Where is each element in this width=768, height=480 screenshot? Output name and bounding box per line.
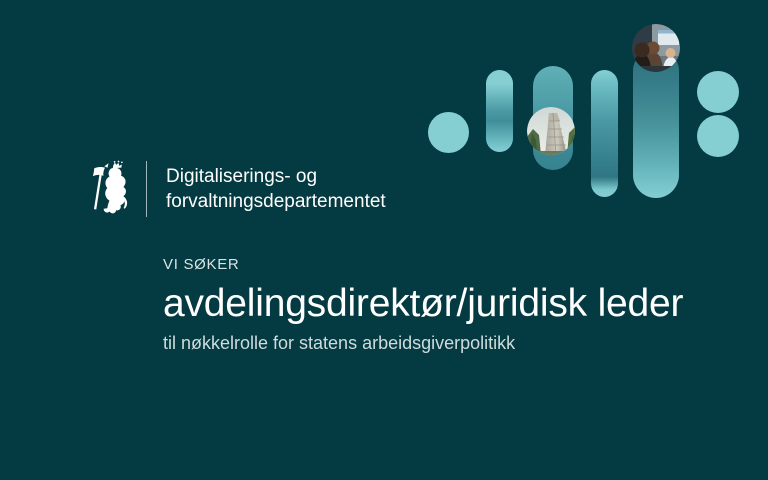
job-title-heading: avdelingsdirektør/juridisk leder — [163, 281, 683, 327]
logo-divider — [146, 161, 147, 217]
department-logo: Digitaliserings- og forvaltningsdepartem… — [88, 160, 386, 218]
job-subtitle: til nøkkelrolle for statens arbeidsgiver… — [163, 331, 683, 355]
norwegian-coat-of-arms-lion-icon — [88, 160, 132, 218]
department-name: Digitaliserings- og forvaltningsdepartem… — [166, 164, 386, 214]
photo-building-facade — [527, 107, 575, 155]
circle-solid-1 — [428, 112, 469, 153]
job-ad-poster: Digitaliserings- og forvaltningsdepartem… — [0, 0, 768, 480]
circle-solid-top-right — [697, 71, 739, 113]
circle-solid-bottom-right — [697, 115, 739, 157]
pill-4 — [591, 70, 618, 197]
announcement-block: VI SØKER avdelingsdirektør/juridisk lede… — [163, 255, 683, 355]
department-name-line2: forvaltningsdepartementet — [166, 189, 386, 214]
decorative-shape-cluster — [420, 0, 768, 220]
eyebrow-label: VI SØKER — [163, 255, 683, 275]
department-name-line1: Digitaliserings- og — [166, 164, 386, 189]
pill-2 — [486, 70, 513, 152]
photo-meeting-room — [632, 24, 680, 72]
